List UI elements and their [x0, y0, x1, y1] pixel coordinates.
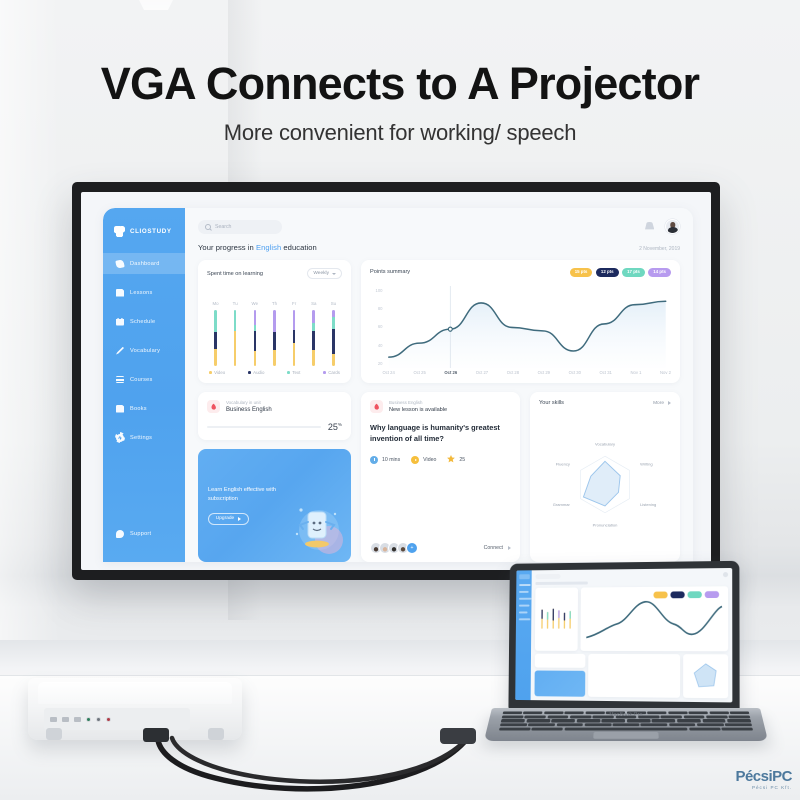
- laptop-nav-active: [519, 574, 530, 579]
- left-column: Vocabulary in unit Business English 25% …: [198, 392, 351, 562]
- key: [613, 723, 640, 726]
- line-chart-wrap: 10080604020: [370, 286, 671, 375]
- lesson-card: Business English New lesson is available…: [361, 392, 520, 562]
- bar-segment: [234, 310, 237, 331]
- line-chart-svg: [383, 286, 672, 368]
- search-icon: [205, 224, 211, 230]
- current-date: 2 November, 2019: [639, 246, 680, 252]
- headline-block: VGA Connects to A Projector More conveni…: [0, 60, 800, 146]
- bar: [312, 310, 315, 366]
- watermark-brand: PécsiPC: [735, 768, 792, 785]
- bar: [332, 310, 335, 366]
- radar-chart-svg: VocabularyWritingListeningPronunciationG…: [539, 415, 671, 554]
- bar-segment: [312, 323, 315, 330]
- flame-icon: [207, 400, 220, 413]
- key: [602, 719, 626, 722]
- chevron-down-icon: [332, 273, 336, 275]
- dashboard-icon: [115, 259, 124, 268]
- lesson-meta-item: 25: [447, 455, 465, 465]
- rca-jack: [106, 717, 111, 722]
- spacebar: [564, 728, 688, 731]
- page-subtitle: More convenient for working/ speech: [0, 120, 800, 146]
- legend-item: Cards: [323, 370, 340, 375]
- bar-segment: [332, 317, 335, 329]
- line-chart-area: [388, 301, 665, 368]
- skills-card: Your skills More VocabularyWritingListen…: [530, 392, 680, 562]
- bar-segment: [254, 351, 257, 366]
- legend-dot: [287, 371, 290, 374]
- lesson-meta: 10 minsVideo25: [370, 455, 511, 465]
- key: [556, 723, 583, 726]
- chevron-right-icon: [238, 517, 241, 521]
- projector-port-panel: [44, 708, 190, 730]
- card-title: Points summary: [370, 269, 410, 275]
- sidebar-item-settings[interactable]: Settings: [103, 427, 185, 448]
- legend-item: Audio: [248, 370, 264, 375]
- bar-segment: [332, 329, 335, 354]
- line-chart: [383, 286, 672, 368]
- key: [652, 719, 676, 722]
- laptop-title: [535, 582, 587, 585]
- sidebar-item-schedule[interactable]: Schedule: [103, 311, 185, 332]
- main-content: Search Your progress in English educatio…: [185, 208, 693, 562]
- sidebar-item-books[interactable]: Books: [103, 398, 185, 419]
- points-badge[interactable]: 14 pts: [648, 268, 671, 277]
- brand[interactable]: CLIOSTUDY: [103, 222, 185, 241]
- x-tick: Nov 1: [630, 370, 641, 375]
- bell-icon[interactable]: [645, 222, 654, 231]
- key: [677, 719, 701, 722]
- points-badge[interactable]: 17 pts: [622, 268, 645, 277]
- chevron-right-icon: [668, 401, 671, 405]
- search-input[interactable]: Search: [198, 220, 282, 234]
- x-tick: Oct 24: [383, 370, 395, 375]
- laptop-bar-chart: [538, 591, 575, 648]
- legend-dot: [323, 371, 326, 374]
- legend-label: Cards: [328, 370, 340, 375]
- sidebar-item-lessons[interactable]: Lessons: [103, 282, 185, 303]
- x-tick: Oct 27: [476, 370, 488, 375]
- bar-segment: [312, 331, 315, 350]
- legend-label: Video: [214, 370, 225, 375]
- dashboard-app: CLIOSTUDY Dashboard Lessons Schedule Voc…: [103, 208, 693, 562]
- legend-label: Audio: [253, 370, 264, 375]
- radar-axis-label: Listening: [640, 502, 656, 507]
- connect-button[interactable]: Connect: [484, 545, 511, 551]
- bar: [273, 310, 276, 366]
- key: [727, 719, 751, 722]
- clock-icon: [370, 456, 378, 464]
- bar-segment: [332, 354, 335, 366]
- plot-column: Oct 24Oct 25Oct 26Oct 27Oct 28Oct 29Oct …: [383, 286, 672, 375]
- sidebar-item-dashboard[interactable]: Dashboard: [103, 253, 185, 274]
- laptop-avatar: [723, 572, 728, 577]
- bar-column: We: [248, 301, 261, 366]
- points-summary-card: Points summary 15 pts12 pts17 pts14 pts …: [361, 260, 680, 383]
- vocab-header: Vocabulary in unit Business English: [207, 400, 342, 413]
- bar-segment: [312, 350, 315, 366]
- bar-day-label: Fr: [292, 301, 296, 306]
- card-title: Your skills: [539, 400, 564, 406]
- support-icon: [116, 530, 124, 538]
- sidebar-item-label: Courses: [130, 377, 153, 383]
- x-tick: Oct 26: [444, 370, 457, 375]
- promo-card[interactable]: Learn English effective with subscriptio…: [198, 449, 351, 562]
- vga-jack: [86, 717, 91, 722]
- vocab-text: Vocabulary in unit Business English: [226, 400, 272, 413]
- projector: [22, 668, 250, 760]
- bar-segment: [273, 310, 276, 332]
- laptop-radar-chart: [688, 659, 723, 694]
- key: [725, 723, 752, 726]
- bar-day-label: Tu: [233, 301, 238, 306]
- lesson-meta-item: 10 mins: [370, 456, 400, 464]
- settings-icon: [116, 434, 124, 442]
- bar-day-label: Th: [272, 301, 277, 306]
- lesson-header: Business English New lesson is available: [370, 400, 511, 413]
- bar-segment: [273, 350, 276, 366]
- key: [551, 719, 575, 722]
- chevron-right-icon: [508, 546, 511, 550]
- key: [532, 728, 563, 731]
- key-row: [501, 719, 751, 722]
- books-icon: [116, 405, 124, 413]
- key: [689, 728, 720, 731]
- page-header: Your progress in English education 2 Nov…: [198, 243, 680, 252]
- x-tick: Oct 25: [413, 370, 425, 375]
- progress-track[interactable]: [207, 426, 321, 429]
- lesson-meta-label: 25: [459, 457, 465, 463]
- bar-day-label: Su: [331, 301, 336, 306]
- progress-percent: 25%: [328, 422, 342, 432]
- key-row: [499, 728, 753, 731]
- percent-symbol: %: [338, 422, 342, 427]
- sidebar-item-support[interactable]: Support: [103, 523, 185, 544]
- key: [627, 719, 651, 722]
- bar: [214, 310, 217, 366]
- vocab-subtitle: Vocabulary in unit: [226, 400, 272, 405]
- title-prefix: Your progress in: [198, 243, 256, 252]
- lesson-meta-label: Video: [423, 457, 436, 463]
- avatar[interactable]: [665, 219, 680, 234]
- vocab-name: Business English: [226, 407, 272, 413]
- projector-foot-left: [46, 728, 62, 740]
- lesson-meta-label: 10 mins: [382, 457, 400, 463]
- card-header: Spent time on learning Weekly: [207, 268, 342, 279]
- promo-illustration: [283, 500, 345, 558]
- range-label: Weekly: [313, 271, 329, 276]
- laptop-promo-card: [534, 670, 585, 696]
- sidebar: CLIOSTUDY Dashboard Lessons Schedule Voc…: [103, 208, 185, 562]
- lesson-footer: + Connect: [370, 542, 511, 554]
- lesson-title: Why language is humanity's greatest inve…: [370, 423, 511, 444]
- bottom-card-row: Vocabulary in unit Business English 25% …: [198, 392, 680, 562]
- bar-segment: [214, 332, 217, 349]
- bar-column: Tu: [229, 301, 242, 366]
- key: [641, 723, 668, 726]
- bar-day-label: We: [252, 301, 259, 306]
- laptop-bar-card: [535, 588, 578, 651]
- points-badge[interactable]: 15 pts: [570, 268, 593, 277]
- radar-area: [583, 461, 620, 506]
- radar-axis-label: Fluency: [556, 462, 571, 467]
- radar-axis-label: Writing: [640, 462, 653, 467]
- vocabulary-card: Vocabulary in unit Business English 25%: [198, 392, 351, 440]
- bar-column: Th: [268, 301, 281, 366]
- bar-column: Su: [327, 301, 340, 366]
- more-button[interactable]: More: [653, 401, 671, 406]
- lan-port: [62, 717, 69, 722]
- bar-segment: [214, 349, 217, 366]
- projector-foot-right: [208, 728, 224, 740]
- bar-day-label: Sa: [311, 301, 316, 306]
- key: [669, 723, 696, 726]
- schedule-icon: [116, 318, 124, 326]
- laptop-nav-item: [519, 605, 530, 607]
- laptop-line-chart: [584, 589, 725, 648]
- sidebar-spacer: [103, 456, 185, 523]
- key: [499, 728, 530, 731]
- x-tick: Oct 31: [600, 370, 612, 375]
- x-tick: Oct 28: [507, 370, 519, 375]
- bar-segment: [214, 310, 217, 332]
- flame-icon: [370, 400, 383, 413]
- laptop-nav-item: [519, 584, 530, 586]
- key: [500, 723, 527, 726]
- laptop-nav-item: [519, 618, 531, 620]
- laptop-trackpad[interactable]: [593, 732, 658, 739]
- upgrade-label: Upgrade: [216, 516, 234, 521]
- participant-avatars[interactable]: +: [370, 542, 415, 554]
- bar-segment: [293, 310, 296, 330]
- bar-segment: [332, 310, 335, 317]
- y-axis-labels: 10080604020: [370, 286, 383, 375]
- bar: [254, 310, 257, 366]
- bar-chart-legend: VideoAudioTextCards: [207, 370, 342, 375]
- laptop-vocab-card: [535, 653, 586, 667]
- sidebar-item-label: Settings: [130, 435, 152, 441]
- projector-top-panel: [38, 682, 232, 704]
- lesson-status: New lesson is available: [389, 407, 447, 413]
- more-label: More: [653, 401, 664, 406]
- bar: [234, 310, 237, 366]
- bar-chart: MoTuWeThFrSaSu: [207, 288, 342, 370]
- legend-item: Video: [209, 370, 225, 375]
- bar-column: Mo: [209, 301, 222, 366]
- card-title: Spent time on learning: [207, 271, 263, 277]
- radar-axis-label: Pronunciation: [593, 522, 618, 527]
- screen-surface: CLIOSTUDY Dashboard Lessons Schedule Voc…: [81, 192, 711, 570]
- vocab-progress-row: 25%: [207, 422, 342, 432]
- title-suffix: education: [281, 243, 317, 252]
- x-tick: Oct 29: [538, 370, 550, 375]
- connect-label: Connect: [484, 545, 503, 551]
- key: [501, 719, 525, 722]
- sidebar-item-courses[interactable]: Courses: [103, 369, 185, 390]
- x-axis-labels: Oct 24Oct 25Oct 26Oct 27Oct 28Oct 29Oct …: [383, 368, 672, 375]
- key: [722, 728, 753, 731]
- top-card-row: Spent time on learning Weekly MoTuWeThFr…: [198, 260, 680, 383]
- lesson-header-text: Business English New lesson is available: [389, 400, 447, 413]
- bar: [293, 310, 296, 366]
- laptop-line-card: [581, 586, 729, 651]
- key: [697, 723, 724, 726]
- y-tick: 80: [370, 306, 383, 311]
- radar-axis-label: Grammar: [553, 502, 571, 507]
- bar-segment: [234, 331, 237, 366]
- search-placeholder: Search: [215, 224, 231, 230]
- legend-label: Text: [292, 370, 300, 375]
- key: [702, 719, 726, 722]
- laptop-search: [535, 574, 560, 579]
- y-tick: 40: [370, 343, 383, 348]
- sidebar-item-vocabulary[interactable]: Vocabulary: [103, 340, 185, 361]
- courses-icon: [116, 376, 124, 383]
- bar-column: Sa: [307, 301, 320, 366]
- laptop-main: [531, 568, 733, 702]
- laptop-nav-item: [519, 598, 531, 600]
- laptop-label: MacBook Pro: [492, 712, 760, 718]
- page-title: VGA Connects to A Projector: [0, 60, 800, 107]
- laptop-lesson-card: [588, 654, 680, 698]
- audio-jack: [96, 717, 101, 722]
- key: [576, 719, 600, 722]
- y-tick: 60: [370, 324, 383, 329]
- key: [528, 723, 555, 726]
- lesson-subtitle: Business English: [389, 400, 447, 405]
- radar-chart: VocabularyWritingListeningPronunciationG…: [539, 415, 671, 554]
- sidebar-item-label: Schedule: [130, 319, 155, 325]
- legend-item: Text: [287, 370, 300, 375]
- laptop-skills-card: [683, 654, 728, 698]
- key: [584, 723, 611, 726]
- bar-column: Fr: [288, 301, 301, 366]
- watermark-sub: Pécsi PC Kft.: [735, 785, 792, 790]
- promo-text: Learn English effective with subscriptio…: [208, 486, 286, 503]
- spent-time-card: Spent time on learning Weekly MoTuWeThFr…: [198, 260, 351, 383]
- bar-segment: [293, 330, 296, 343]
- radar-axis-label: Vocabulary: [595, 441, 616, 446]
- key: [526, 719, 550, 722]
- key-row: [500, 723, 752, 726]
- bar-day-label: Mo: [212, 301, 218, 306]
- vocabulary-icon: [116, 347, 124, 355]
- bar-segment: [273, 332, 276, 350]
- laptop: MacBook Pro: [492, 562, 760, 762]
- chart-cursor-dot: [448, 327, 452, 331]
- laptop-sidebar: [515, 570, 532, 700]
- x-tick: Nov 2: [660, 370, 671, 375]
- logo-icon: [114, 226, 125, 237]
- card-header: Points summary 15 pts12 pts17 pts14 pts: [370, 268, 671, 277]
- points-badge[interactable]: 12 pts: [596, 268, 619, 277]
- bar-segment: [293, 343, 296, 366]
- sidebar-item-label: Lessons: [130, 290, 153, 296]
- lesson-meta-item: Video: [411, 456, 436, 464]
- sidebar-item-label: Vocabulary: [130, 348, 160, 354]
- range-select[interactable]: Weekly: [307, 268, 342, 279]
- watermark: PécsiPC Pécsi PC Kft.: [735, 768, 792, 790]
- sidebar-item-label: Dashboard: [130, 261, 160, 267]
- legend-dot: [209, 371, 212, 374]
- sidebar-item-label: Books: [130, 406, 147, 412]
- usb-port: [50, 717, 57, 722]
- y-tick: 20: [370, 361, 383, 366]
- projector-body: [28, 678, 242, 740]
- title-highlight: English: [256, 243, 281, 252]
- laptop-screen: [515, 568, 732, 702]
- sidebar-item-label: Support: [130, 531, 151, 537]
- lessons-icon: [116, 289, 124, 297]
- bar-segment: [312, 310, 315, 323]
- brand-label: CLIOSTUDY: [130, 228, 172, 235]
- laptop-lid: [508, 561, 739, 712]
- avatar-more[interactable]: +: [406, 542, 418, 554]
- bar-segment: [254, 331, 257, 352]
- y-tick: 100: [370, 288, 383, 293]
- laptop-nav-item: [519, 591, 529, 593]
- star-icon: [447, 455, 455, 465]
- topbar: Search: [198, 219, 680, 234]
- dashboard-title: Your progress in English education: [198, 243, 317, 252]
- points-badges: 15 pts12 pts17 pts14 pts: [570, 268, 671, 277]
- bar-segment: [254, 310, 257, 325]
- projection-screen: CLIOSTUDY Dashboard Lessons Schedule Voc…: [72, 182, 720, 580]
- video-icon: [411, 456, 419, 464]
- x-tick: Oct 30: [569, 370, 581, 375]
- card-header: Your skills More: [539, 400, 671, 406]
- vga-port: [74, 717, 81, 722]
- upgrade-button[interactable]: Upgrade: [208, 513, 249, 525]
- laptop-nav-item: [519, 611, 528, 613]
- legend-dot: [248, 371, 251, 374]
- percent-value: 25: [328, 422, 338, 432]
